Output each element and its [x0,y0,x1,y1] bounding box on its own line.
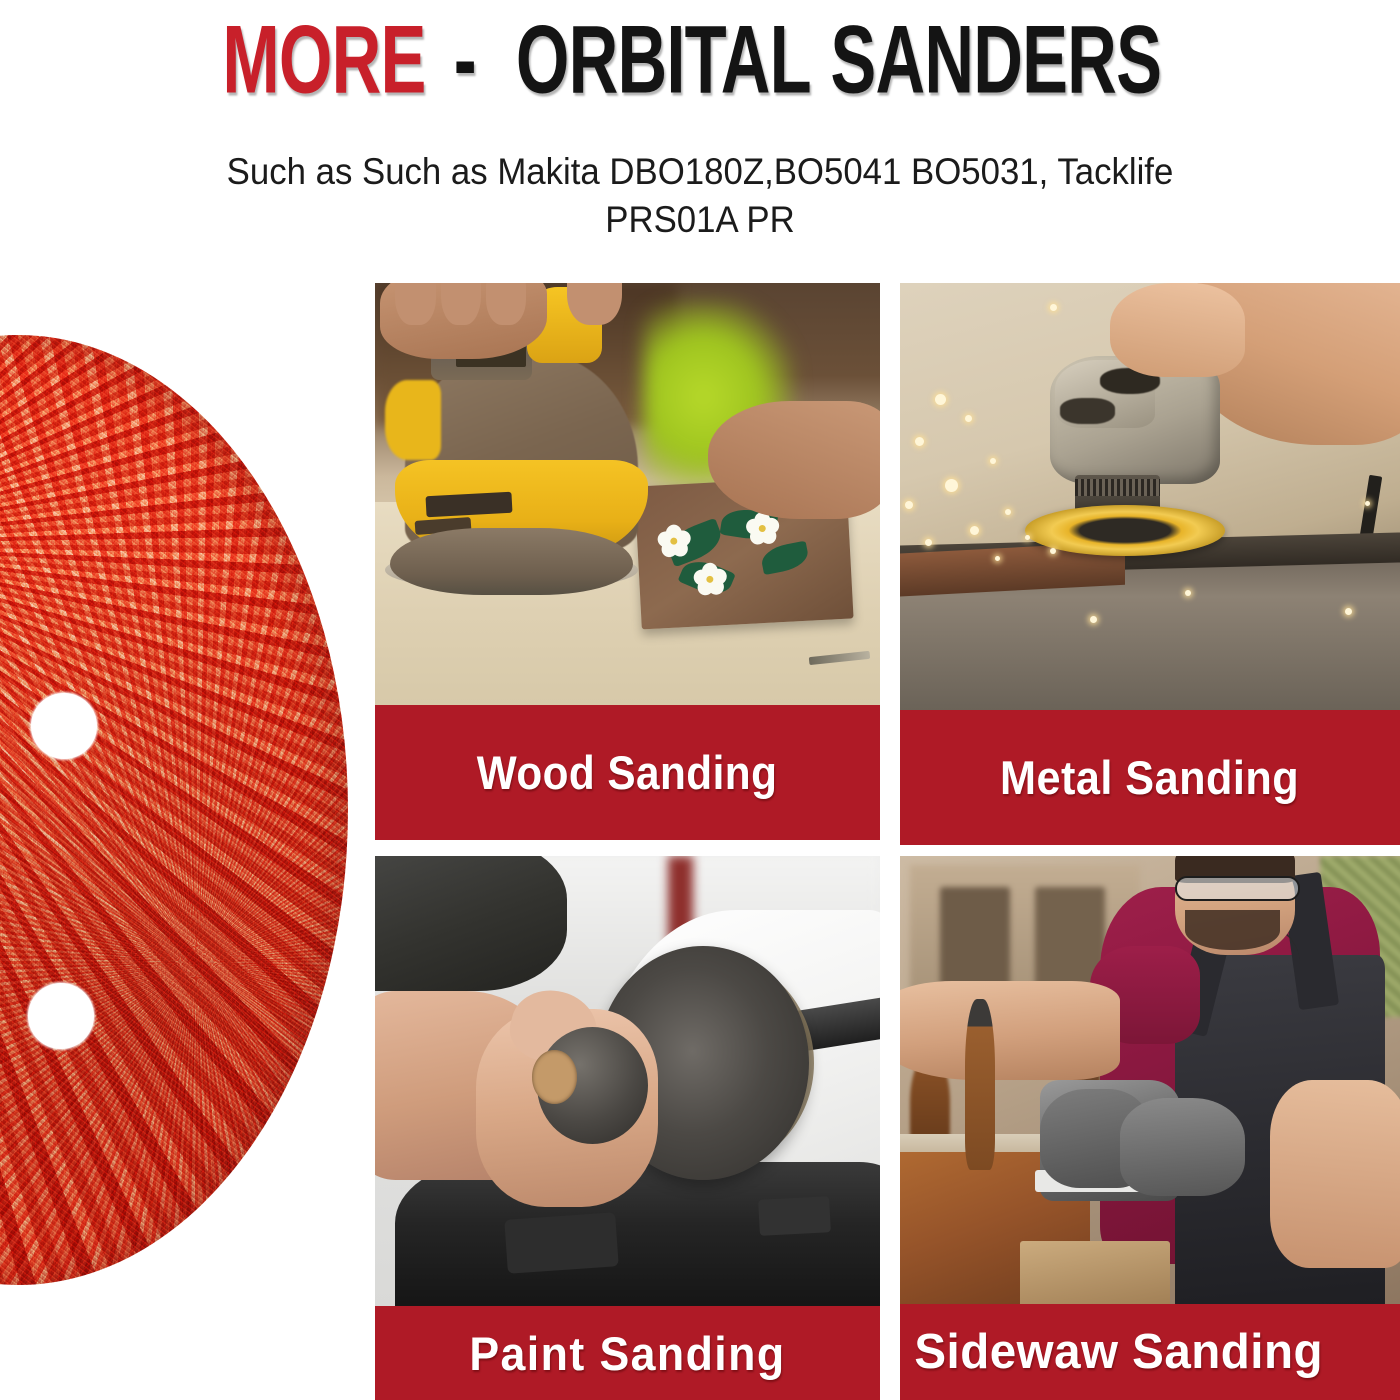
disc-grain-texture [0,335,348,1285]
infographic-page: MORE-ORBITALSANDERS Such as Such as Maki… [0,0,1400,1400]
label-bar-paint: Paint Sanding [375,1306,880,1400]
hand-gripping-grinder [1110,283,1245,377]
application-grid: Wood Sanding [375,283,1400,1400]
right-arm [1270,1080,1400,1268]
panel-paint[interactable]: Paint Sanding [375,856,880,1400]
photo-paint-sanding [375,856,880,1306]
disc-dust-hole [28,983,94,1049]
panel-label-paint: Paint Sanding [469,1326,785,1381]
photo-sideway-sanding [900,856,1400,1304]
title-dash: - [454,12,476,108]
title-word-orbital: ORBITAL [516,12,811,108]
safety-goggles [1175,876,1300,901]
disc-abrasive-surface [0,335,348,1285]
hand-steadying-panel [708,401,880,519]
left-arm [900,981,1120,1080]
header: MORE-ORBITALSANDERS Such as Such as Maki… [0,0,1400,268]
panel-label-wood: Wood Sanding [477,745,778,800]
label-bar-wood: Wood Sanding [375,705,880,840]
sanding-disc [0,335,348,1285]
label-bar-sideway: Sidewaw Sanding [900,1304,1400,1400]
title-word-sanders: SANDERS [831,12,1162,108]
chisel-tool [965,999,995,1169]
label-bar-metal: Metal Sanding [900,710,1400,845]
panel-wood[interactable]: Wood Sanding [375,283,880,840]
panel-metal[interactable]: Metal Sanding [900,283,1400,845]
panel-label-sideway: Sidewaw Sanding [914,1324,1323,1380]
disc-dust-hole [31,693,97,759]
subtitle: Such as Such as Makita DBO180Z,BO5041 BO… [183,148,1217,244]
page-title: MORE-ORBITALSANDERS [0,22,1400,108]
panel-label-metal: Metal Sanding [1000,750,1299,805]
photo-wood-sanding [375,283,880,705]
work-glove [1120,1098,1245,1197]
title-word-more: MORE [222,12,425,108]
photo-metal-sanding [900,283,1400,710]
panel-sideway[interactable]: Sidewaw Sanding [900,856,1400,1400]
